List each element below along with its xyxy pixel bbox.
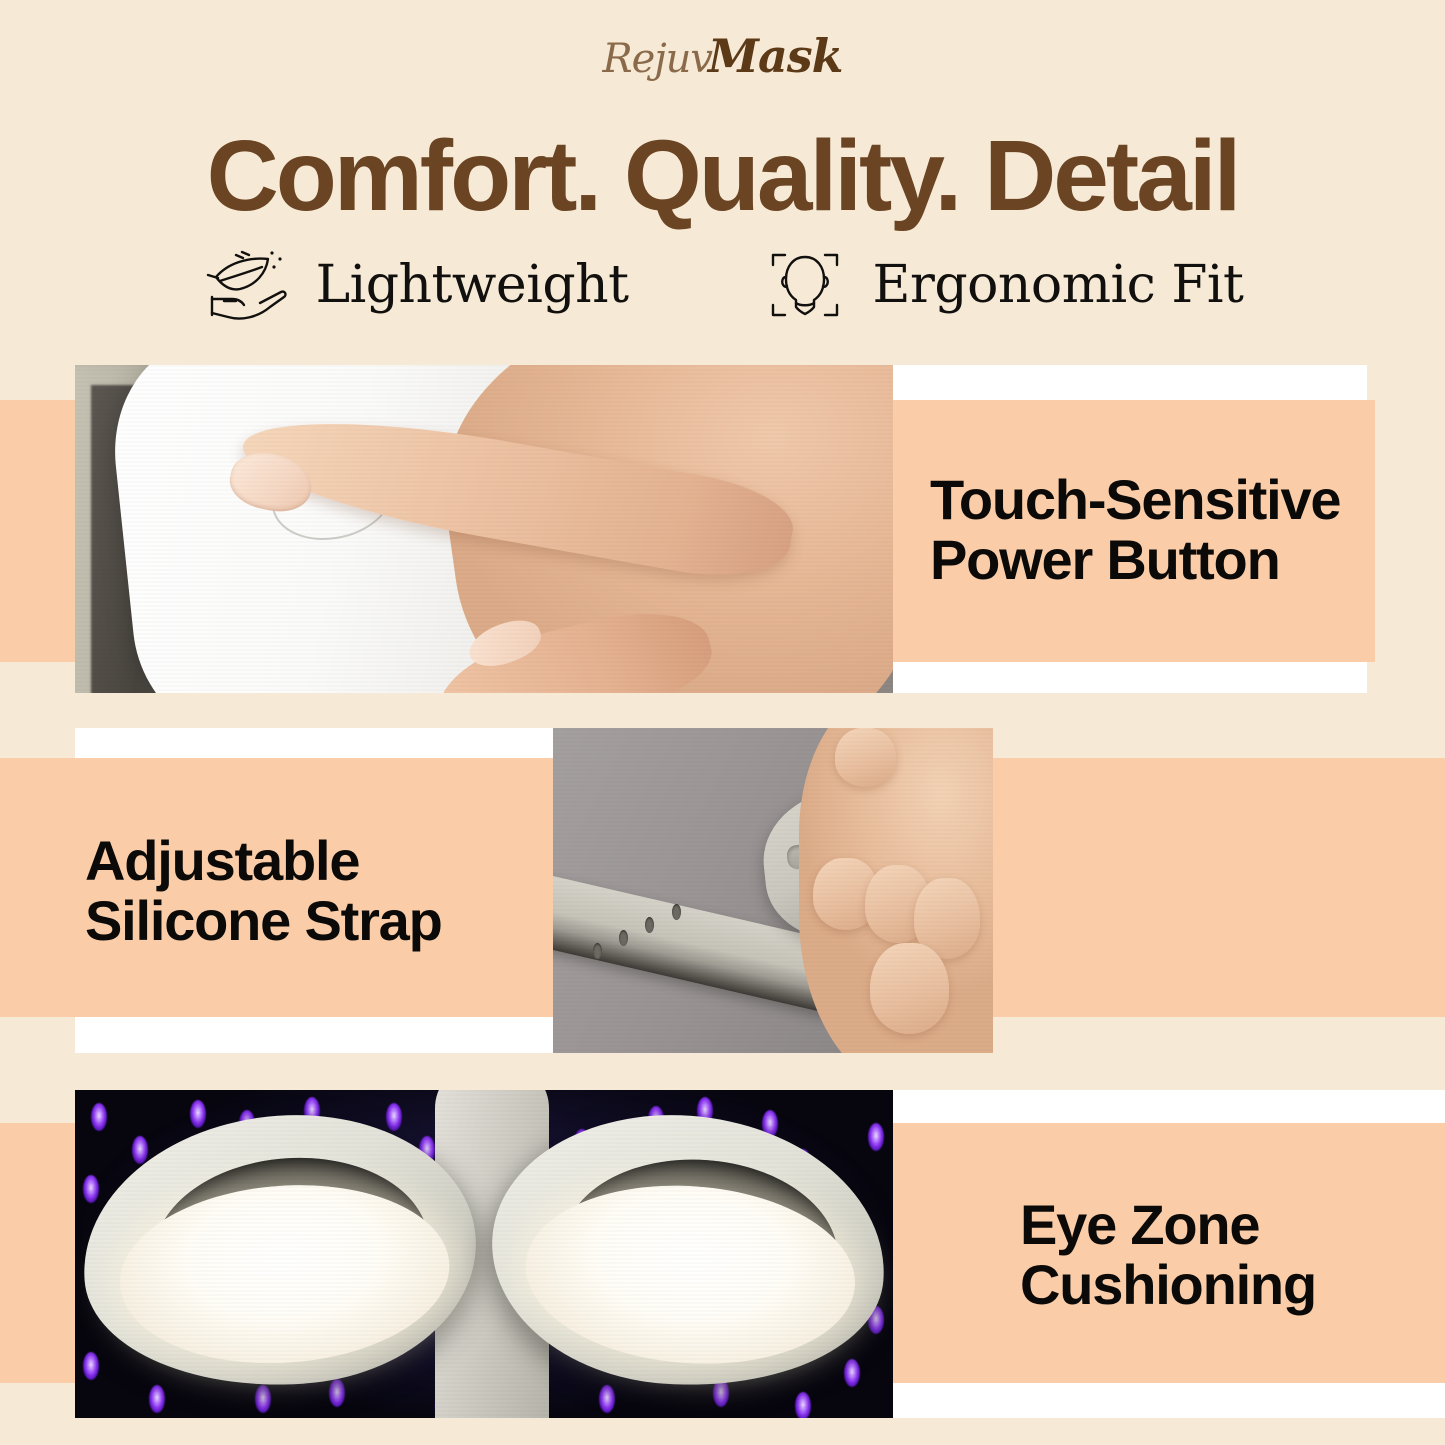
photo-power-button <box>75 365 893 693</box>
white-band-row1-lower <box>893 662 1367 693</box>
feature-row-silicone-strap: Adjustable Silicone Strap <box>0 728 1445 1054</box>
brand-logo-part2: Mask <box>708 29 843 83</box>
feature-row-eye-cushioning: Eye Zone Cushioning <box>0 1090 1445 1418</box>
caption-text-power-button: Touch-Sensitive Power Button <box>930 470 1340 590</box>
feather-in-hand-icon <box>202 247 294 323</box>
badge-label-lightweight: Lightweight <box>316 257 629 313</box>
caption-text-eye-cushioning: Eye Zone Cushioning <box>1020 1195 1316 1315</box>
white-band-row2 <box>75 728 553 758</box>
white-band-row2-lower <box>75 1017 553 1053</box>
white-band-row3 <box>893 1090 1445 1123</box>
badge-ergonomic-fit: Ergonomic Fit <box>759 247 1244 323</box>
brand-logo: RejuvMask <box>0 26 1445 86</box>
page-title: Comfort. Quality. Detail <box>0 124 1445 228</box>
photo-eye-cushioning <box>75 1090 893 1418</box>
feature-row-power-button: Touch-Sensitive Power Button <box>0 365 1445 695</box>
badge-label-ergonomic-fit: Ergonomic Fit <box>873 257 1244 313</box>
caption-text-silicone-strap: Adjustable Silicone Strap <box>85 831 442 951</box>
caption-eye-cushioning: Eye Zone Cushioning <box>1020 1185 1440 1325</box>
feature-badge-list: Lightweight Ergonomic Fit <box>0 247 1445 323</box>
white-band-row3-lower <box>893 1383 1445 1418</box>
face-scan-icon <box>759 247 851 323</box>
white-band-row1 <box>893 365 1367 400</box>
badge-lightweight: Lightweight <box>202 247 629 323</box>
photo-silicone-strap <box>553 728 993 1053</box>
brand-logo-part1: Rejuv <box>602 36 712 82</box>
caption-power-button: Touch-Sensitive Power Button <box>930 460 1430 600</box>
caption-silicone-strap: Adjustable Silicone Strap <box>85 821 545 961</box>
